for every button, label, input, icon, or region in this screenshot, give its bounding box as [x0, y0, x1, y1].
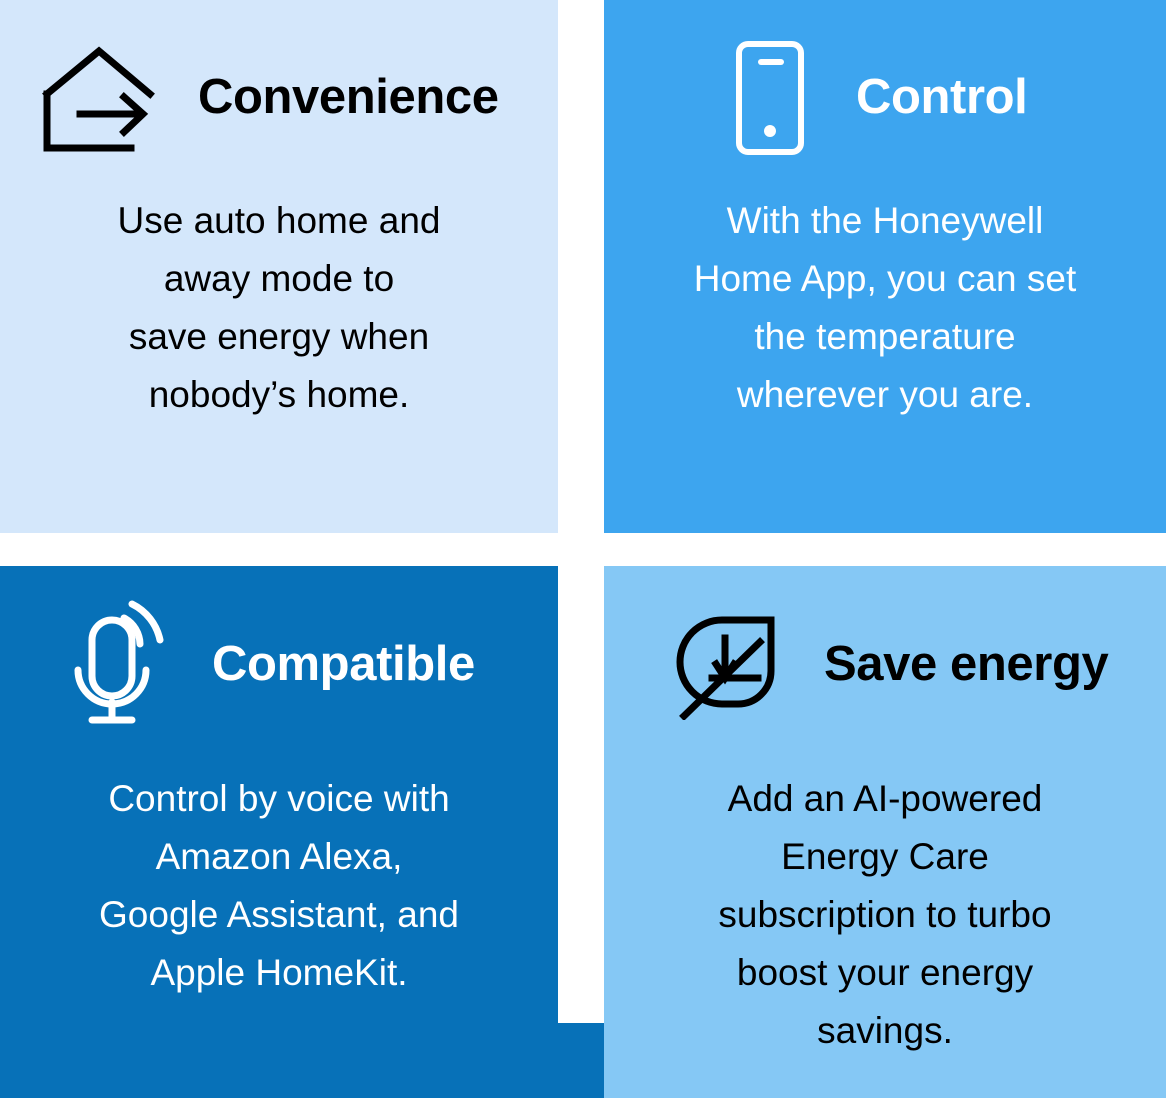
card-save-energy-title: Save energy: [824, 640, 1108, 689]
card-control-title: Control: [856, 73, 1027, 122]
card-compatible[interactable]: Compatible Control by voice with Amazon …: [0, 566, 558, 1098]
card-save-energy[interactable]: Save energy Add an AI-powered Energy Car…: [604, 566, 1166, 1098]
smartphone-icon: [734, 39, 806, 157]
card-convenience-title: Convenience: [198, 73, 499, 122]
microphone-voice-icon: [68, 598, 176, 730]
leaf-energy-icon: [676, 608, 792, 720]
card-save-energy-header: Save energy: [604, 590, 1166, 738]
card-compatible-body: Control by voice with Amazon Alexa, Goog…: [0, 770, 558, 1002]
card-convenience-header: Convenience: [0, 30, 558, 165]
card-compatible-header: Compatible: [0, 590, 558, 738]
card-convenience-body: Use auto home and away mode to save ener…: [0, 192, 558, 424]
card-compatible-title: Compatible: [212, 640, 475, 689]
card-save-energy-body: Add an AI-powered Energy Care subscripti…: [604, 770, 1166, 1060]
card-control-header: Control: [604, 30, 1166, 165]
card-control[interactable]: Control With the Honeywell Home App, you…: [604, 0, 1166, 533]
card-convenience[interactable]: Convenience Use auto home and away mode …: [0, 0, 558, 533]
card-compatible-foot-extension: [0, 1023, 604, 1098]
card-control-body: With the Honeywell Home App, you can set…: [604, 192, 1166, 424]
feature-grid: Convenience Use auto home and away mode …: [0, 0, 1166, 1098]
house-arrow-icon: [40, 38, 160, 158]
